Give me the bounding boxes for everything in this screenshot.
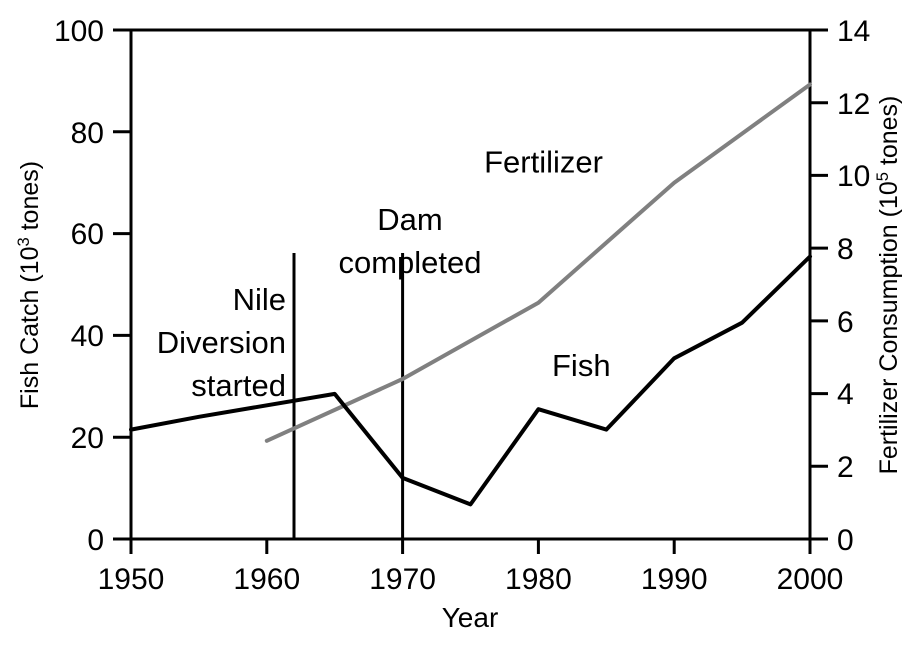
nile-diversion-line-1: Nile [233,282,286,317]
annotation-nile-diversion: Nile Diversion started [157,282,286,403]
ytick-label-60: 60 [71,218,104,251]
ytick-label-40: 40 [71,320,104,353]
y2-axis-title-exponent: 5 [874,172,892,181]
right-axis-tick-labels: 0 2 4 6 8 10 12 14 [837,15,870,557]
y2tick-label-14: 14 [837,15,870,48]
annotation-dam-completed: Dam completed [338,202,481,280]
line-chart: 0 20 40 60 80 100 0 2 4 6 8 10 12 [0,0,917,646]
y2tick-label-10: 10 [837,160,870,193]
y-axis-title: Fish Catch (103 tones) [15,161,44,409]
y2tick-label-2: 2 [837,451,854,484]
ytick-label-0: 0 [87,524,104,557]
xtick-label-1950: 1950 [98,563,165,596]
right-axis-ticks [810,30,828,539]
nile-diversion-line-3: started [191,368,286,403]
chart-figure: 0 20 40 60 80 100 0 2 4 6 8 10 12 [0,0,917,646]
xtick-label-1970: 1970 [369,563,436,596]
x-axis-ticks [131,539,810,554]
ytick-label-80: 80 [71,117,104,150]
left-axis-tick-labels: 0 20 40 60 80 100 [54,15,104,557]
dam-completed-line-1: Dam [377,202,442,237]
series-label-fertilizer: Fertilizer [484,145,603,180]
nile-diversion-line-2: Diversion [157,325,286,360]
y-axis-title-tail: tones) [16,161,44,237]
y2tick-label-12: 12 [837,88,870,121]
xtick-label-1980: 1980 [505,563,572,596]
y-axis-title-exponent: 3 [15,237,33,246]
y2tick-label-4: 4 [837,378,854,411]
series-label-fish: Fish [552,348,611,383]
y2tick-label-6: 6 [837,306,854,339]
y2tick-label-8: 8 [837,233,854,266]
y2-axis-title-main: Fertilizer Consumption (10 [875,181,903,474]
xtick-label-2000: 2000 [777,563,844,596]
y-axis-title-main: Fish Catch (10 [16,247,44,410]
y2tick-label-0: 0 [837,524,854,557]
ytick-label-100: 100 [54,15,104,48]
dam-completed-line-2: completed [338,245,481,280]
xtick-label-1990: 1990 [641,563,708,596]
y2-axis-title: Fertilizer Consumption (105 tones) [874,96,903,475]
x-axis-title: Year [442,602,499,633]
ytick-label-20: 20 [71,422,104,455]
x-axis-tick-labels: 1950 1960 1970 1980 1990 2000 [98,563,844,596]
y2-axis-title-tail: tones) [875,96,903,172]
left-axis-ticks [113,30,131,539]
xtick-label-1960: 1960 [233,563,300,596]
